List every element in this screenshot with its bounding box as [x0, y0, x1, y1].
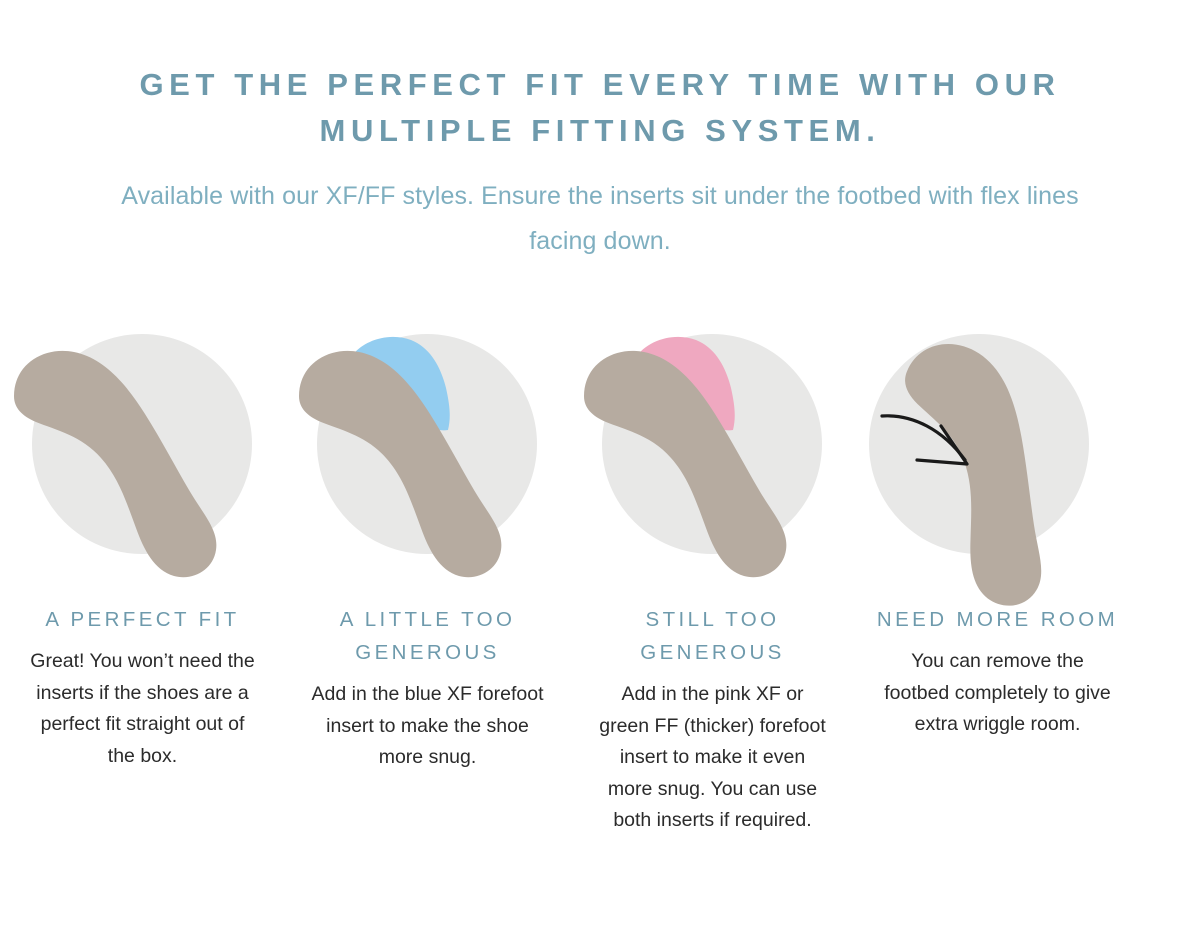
illustration-insole-plain	[0, 318, 285, 586]
fitting-system-infographic: Get the perfect fit every time with our …	[0, 0, 1200, 931]
column-body: Add in the blue XF forefoot insert to ma…	[312, 679, 544, 774]
illustration-insole-pink-insert	[570, 318, 855, 586]
column-title: A Little Too Generous	[300, 603, 555, 669]
header: Get the perfect fit every time with our …	[0, 0, 1200, 264]
fitting-option-need-more-room: Need More Room You can remove the footbe…	[855, 318, 1140, 741]
column-title: Need More Room	[877, 603, 1118, 636]
column-title: Still Too Generous	[585, 603, 840, 669]
illustration-insole-removal-arrow	[855, 318, 1140, 586]
fitting-option-perfect-fit: A Perfect Fit Great! You won’t need the …	[0, 318, 285, 772]
column-title: A Perfect Fit	[45, 603, 239, 636]
page-subtitle: Available with our XF/FF styles. Ensure …	[105, 174, 1095, 264]
column-body: Add in the pink XF or green FF (thicker)…	[597, 679, 829, 837]
fitting-options-row: A Perfect Fit Great! You won’t need the …	[0, 318, 1200, 837]
fitting-option-still-too-generous: Still Too Generous Add in the pink XF or…	[570, 318, 855, 837]
column-body: You can remove the footbed completely to…	[882, 646, 1114, 741]
illustration-insole-blue-insert	[285, 318, 570, 586]
fitting-option-little-too-generous: A Little Too Generous Add in the blue XF…	[285, 318, 570, 774]
column-body: Great! You won’t need the inserts if the…	[27, 646, 259, 772]
page-title: Get the perfect fit every time with our …	[70, 62, 1130, 154]
